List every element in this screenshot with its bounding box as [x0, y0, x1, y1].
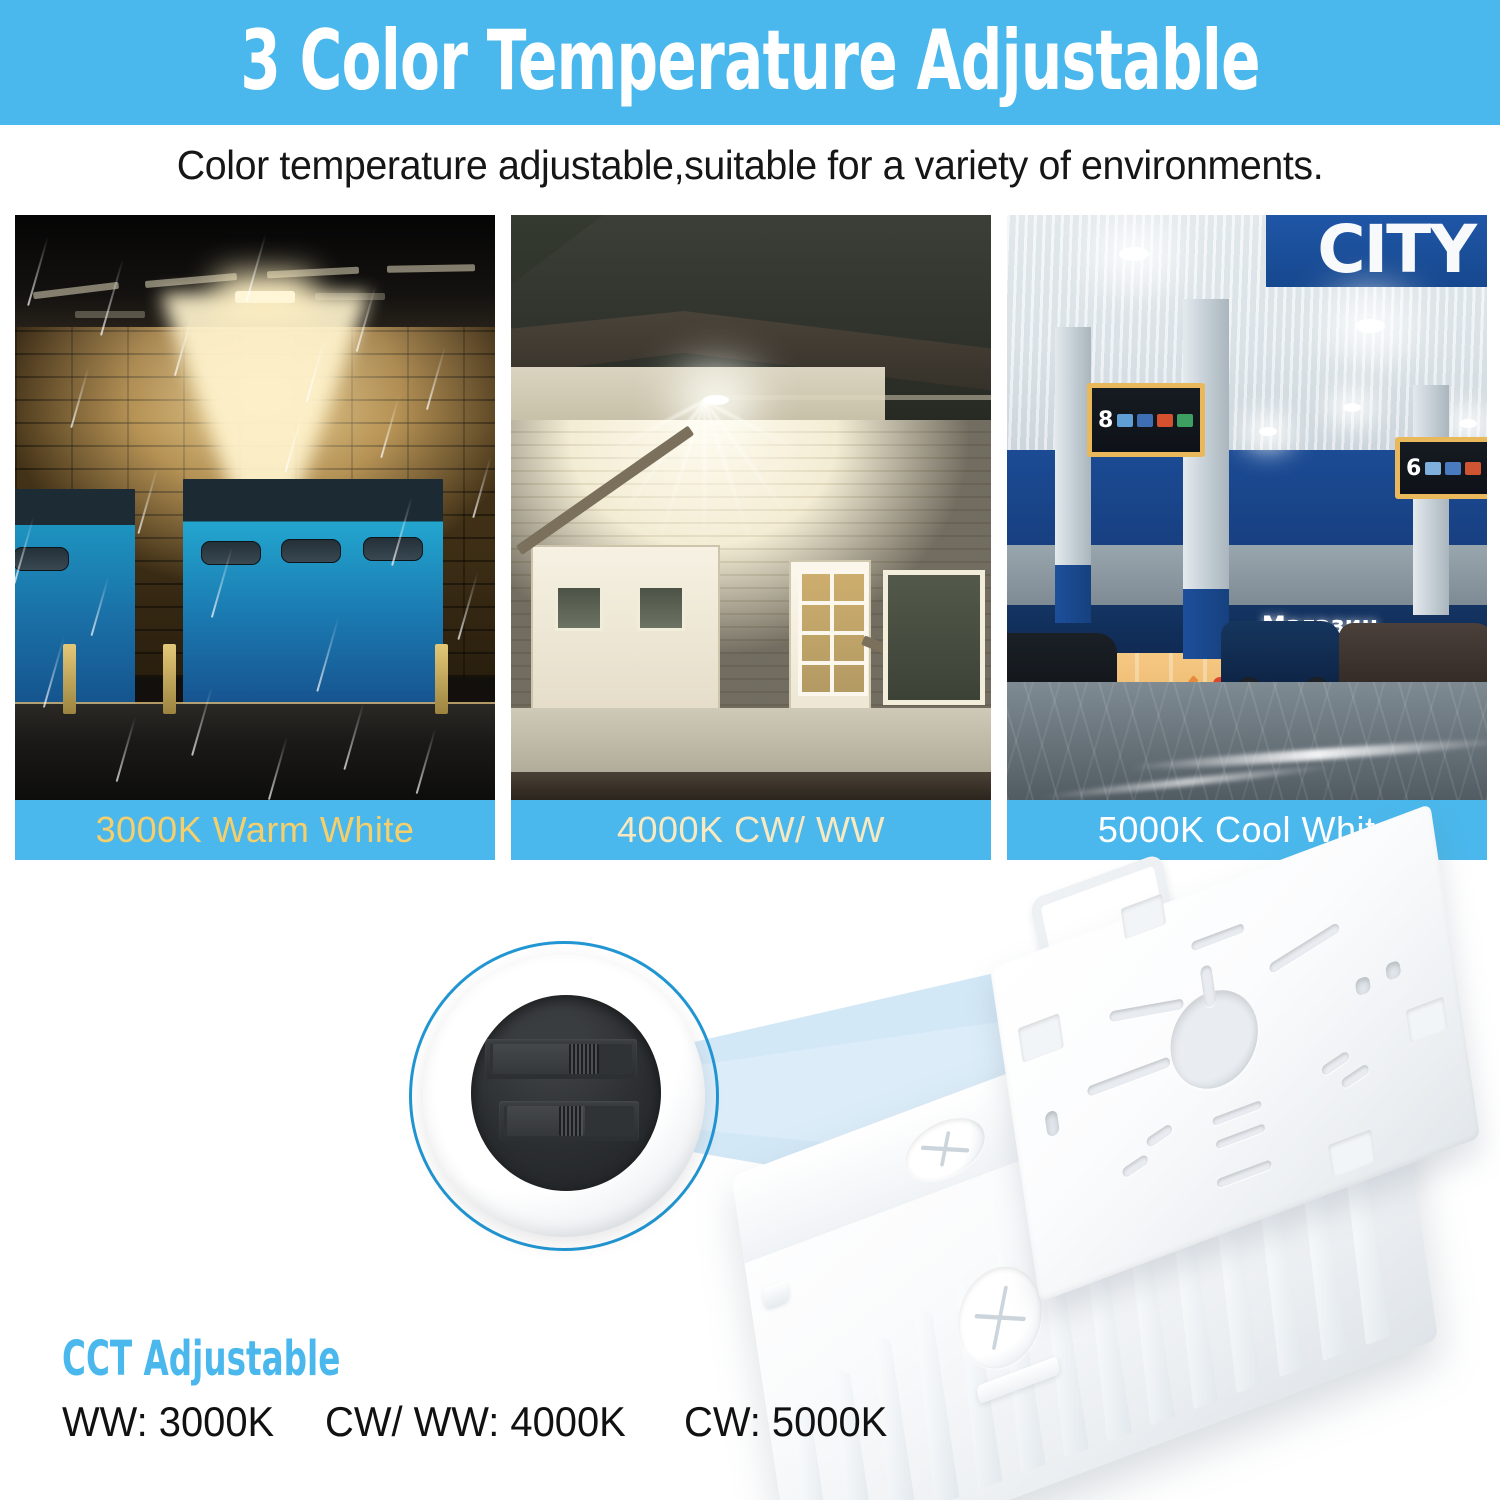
subtitle-text: Color temperature adjustable,suitable fo… [30, 142, 1470, 189]
brand-logo: CITY [1317, 215, 1475, 288]
pump-price-sign-right: 6 [1395, 437, 1487, 499]
dip-switch-1[interactable] [485, 1039, 637, 1079]
canopy-lamp [1355, 319, 1385, 333]
canopy-lamp [1459, 419, 1477, 428]
cct-option-cw-ww: CW/ WW: 4000K [325, 1398, 626, 1446]
bollard [435, 644, 448, 714]
panel-3000k: 3000K Warm White [15, 215, 495, 860]
dip-switch-recess [471, 995, 661, 1191]
caption-3000k: 3000K Warm White [15, 800, 495, 860]
canopy-lamp [1259, 427, 1277, 436]
dip-switch-2[interactable] [499, 1101, 639, 1141]
pump-price-sign-left: 8 [1087, 383, 1205, 457]
canopy-fixture-light [235, 291, 295, 303]
dip-switch-magnifier [409, 941, 719, 1251]
caption-4000k: 4000K CW/ WW [511, 800, 991, 860]
cct-heading: CCT Adjustable [62, 1331, 340, 1387]
page-title: 3 Color Temperature Adjustable [240, 19, 1259, 102]
wet-pavement [15, 704, 495, 800]
infographic-page: 3 Color Temperature Adjustable Color tem… [0, 0, 1500, 1500]
canopy-column [1055, 327, 1091, 577]
canopy-lamp [1119, 247, 1149, 261]
panel-5000k: Магазин CITY 8 [1007, 215, 1487, 860]
column-base [1055, 565, 1091, 623]
photo-cw-ww-house-porch [511, 215, 991, 800]
bollard [163, 644, 176, 714]
cct-options-row: WW: 3000K CW/ WW: 4000K CW: 5000K [62, 1398, 962, 1446]
porch-light-fixture [703, 395, 729, 405]
bollard [63, 644, 76, 714]
photo-warm-white-loading-dock [15, 215, 495, 800]
ground-edge [511, 772, 991, 800]
panel-4000k: 4000K CW/ WW [511, 215, 991, 860]
canopy-column [1413, 385, 1449, 615]
garage-door-right [183, 479, 443, 714]
photo-cool-white-gas-station: Магазин CITY 8 [1007, 215, 1487, 800]
cct-option-cw: CW: 5000K [684, 1398, 887, 1446]
header-banner: 3 Color Temperature Adjustable [0, 0, 1500, 125]
scene-panels: 3000K Warm White [15, 215, 1487, 860]
station-pavement [1007, 682, 1487, 800]
cct-option-ww: WW: 3000K [62, 1398, 274, 1446]
door-glass-grid [798, 570, 868, 696]
canopy-lamp [1343, 403, 1361, 412]
side-window [883, 570, 985, 705]
